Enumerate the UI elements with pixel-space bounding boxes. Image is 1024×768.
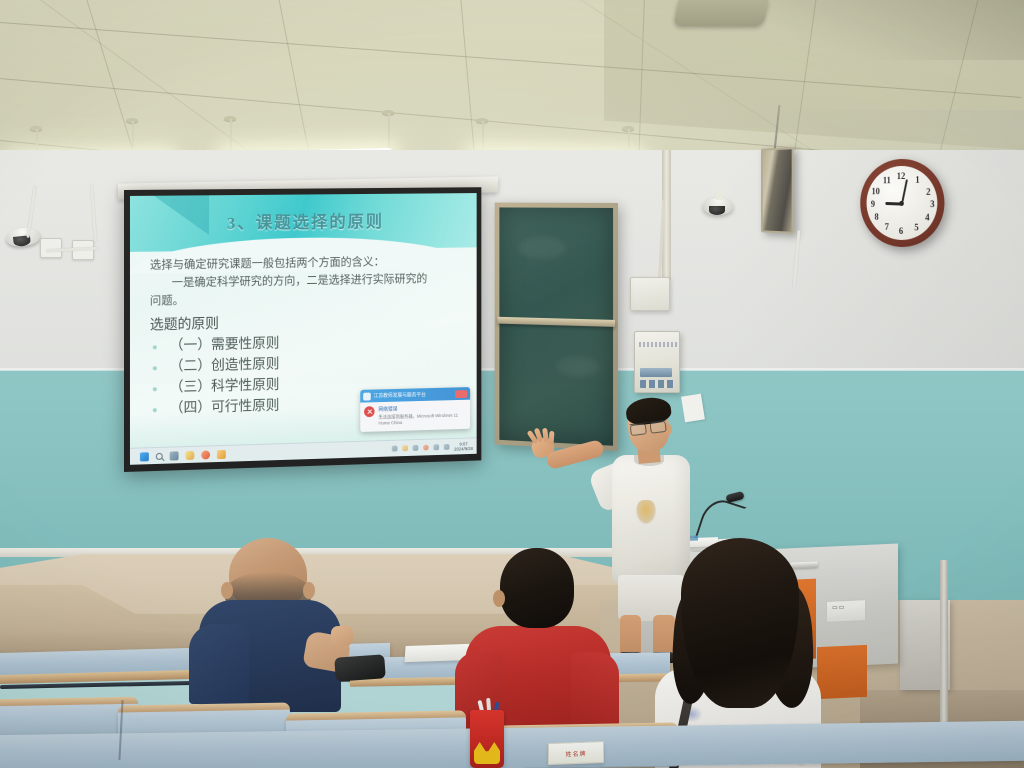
toast-heading: 网络错误 [378,404,466,413]
close-icon[interactable] [455,390,467,398]
onedrive-icon[interactable] [402,445,408,451]
attendee-red-shirt [455,548,615,713]
clock-numeral: 8 [871,213,882,222]
toast-body: 网络错误 无法连接到服务器。Microsoft Windows 11 Home … [360,400,470,432]
panel-lcd [640,368,672,377]
toast-message: 无法连接到服务器。Microsoft Windows 11 Home China [378,412,466,426]
app-logo-icon [363,392,371,400]
attendee-hand [331,626,353,646]
task-view-icon[interactable] [170,451,179,460]
file-explorer-icon[interactable] [185,450,194,459]
clock-numeral: 6 [895,227,906,236]
ime-icon[interactable] [444,444,450,450]
clock-numeral: 10 [870,187,881,196]
error-icon [364,406,375,417]
attendee-ear [493,590,505,607]
clock-numeral: 7 [881,223,892,232]
clock-numeral: 11 [881,176,892,185]
presenter-leg [620,615,641,657]
clock-numeral: 9 [867,200,878,209]
clock-numeral: 5 [911,223,923,232]
attendee-navy-shirt [185,538,355,708]
wall-speaker [761,147,794,234]
light-rod [482,121,484,153]
clock-numeral: 3 [926,200,938,209]
attendee-ear [303,582,315,599]
attendee-hair [681,538,799,708]
taskbar-icons [140,449,226,461]
attendee-head [500,548,574,628]
browser-icon[interactable] [201,450,210,459]
panel-text-strip [639,342,677,347]
finger [549,431,555,445]
bag-on-desk [334,654,386,681]
document-icon[interactable] [217,449,226,458]
classroom-scene: 12 1 2 3 4 5 6 7 8 9 10 11 [0,0,1024,768]
red-pen-cup [470,710,504,768]
shirt-logo-icon [636,500,656,524]
presentation-slide: 3、课题选择的原则 选择与确定研究课题一般包括两个方面的含义： 一是确定科学研究… [130,193,477,465]
ceiling-corner-shadow [724,0,1024,60]
clock-numeral: 4 [921,213,933,222]
projection-screen: 3、课题选择的原则 选择与确定研究课题一般包括两个方面的含义： 一是确定科学研究… [124,187,481,472]
display-icon[interactable] [433,444,439,450]
clock-face: 12 1 2 3 4 5 6 7 8 9 10 11 [867,165,938,241]
notification-toast[interactable]: 江苏教师发展与服务平台 网络错误 无法连接到服务器。Microsoft Wind… [360,387,470,432]
search-icon[interactable] [156,452,163,459]
chevron-up-icon[interactable] [392,446,398,452]
name-card-label: 姓名牌 [565,748,586,758]
slide-title: 3、课题选择的原则 [130,207,477,235]
taskbar-tray: 9:07 2024/9/28 [392,441,473,453]
wall-control-panel [634,331,680,393]
name-card: 姓名牌 [548,741,604,765]
attendee-ear [221,582,233,599]
chalk-rail [497,317,615,327]
ceiling-vent [673,0,769,26]
light-rod [388,113,390,152]
attendee-shoulder [571,652,619,730]
clock-center-pin [899,201,904,206]
logo-icon [474,742,500,764]
toast-app-title: 江苏教师发展与服务平台 [374,390,453,399]
clock-numeral: 1 [912,176,924,185]
wall-junction-box [630,277,670,311]
network-icon[interactable] [413,445,419,451]
taskbar-clock[interactable]: 9:07 2024/9/28 [454,441,473,451]
panel-buttons[interactable] [640,380,674,388]
dome-camera-icon [703,198,733,215]
taskbar-date: 2024/9/28 [454,446,473,451]
cabinet-label: ▭▭ [832,604,845,612]
camera-bracket [716,188,723,200]
windows-start-icon[interactable] [140,452,149,461]
attendee-shoulder [189,624,249,704]
volume-icon[interactable] [423,445,429,451]
clock-numeral: 2 [922,188,934,197]
